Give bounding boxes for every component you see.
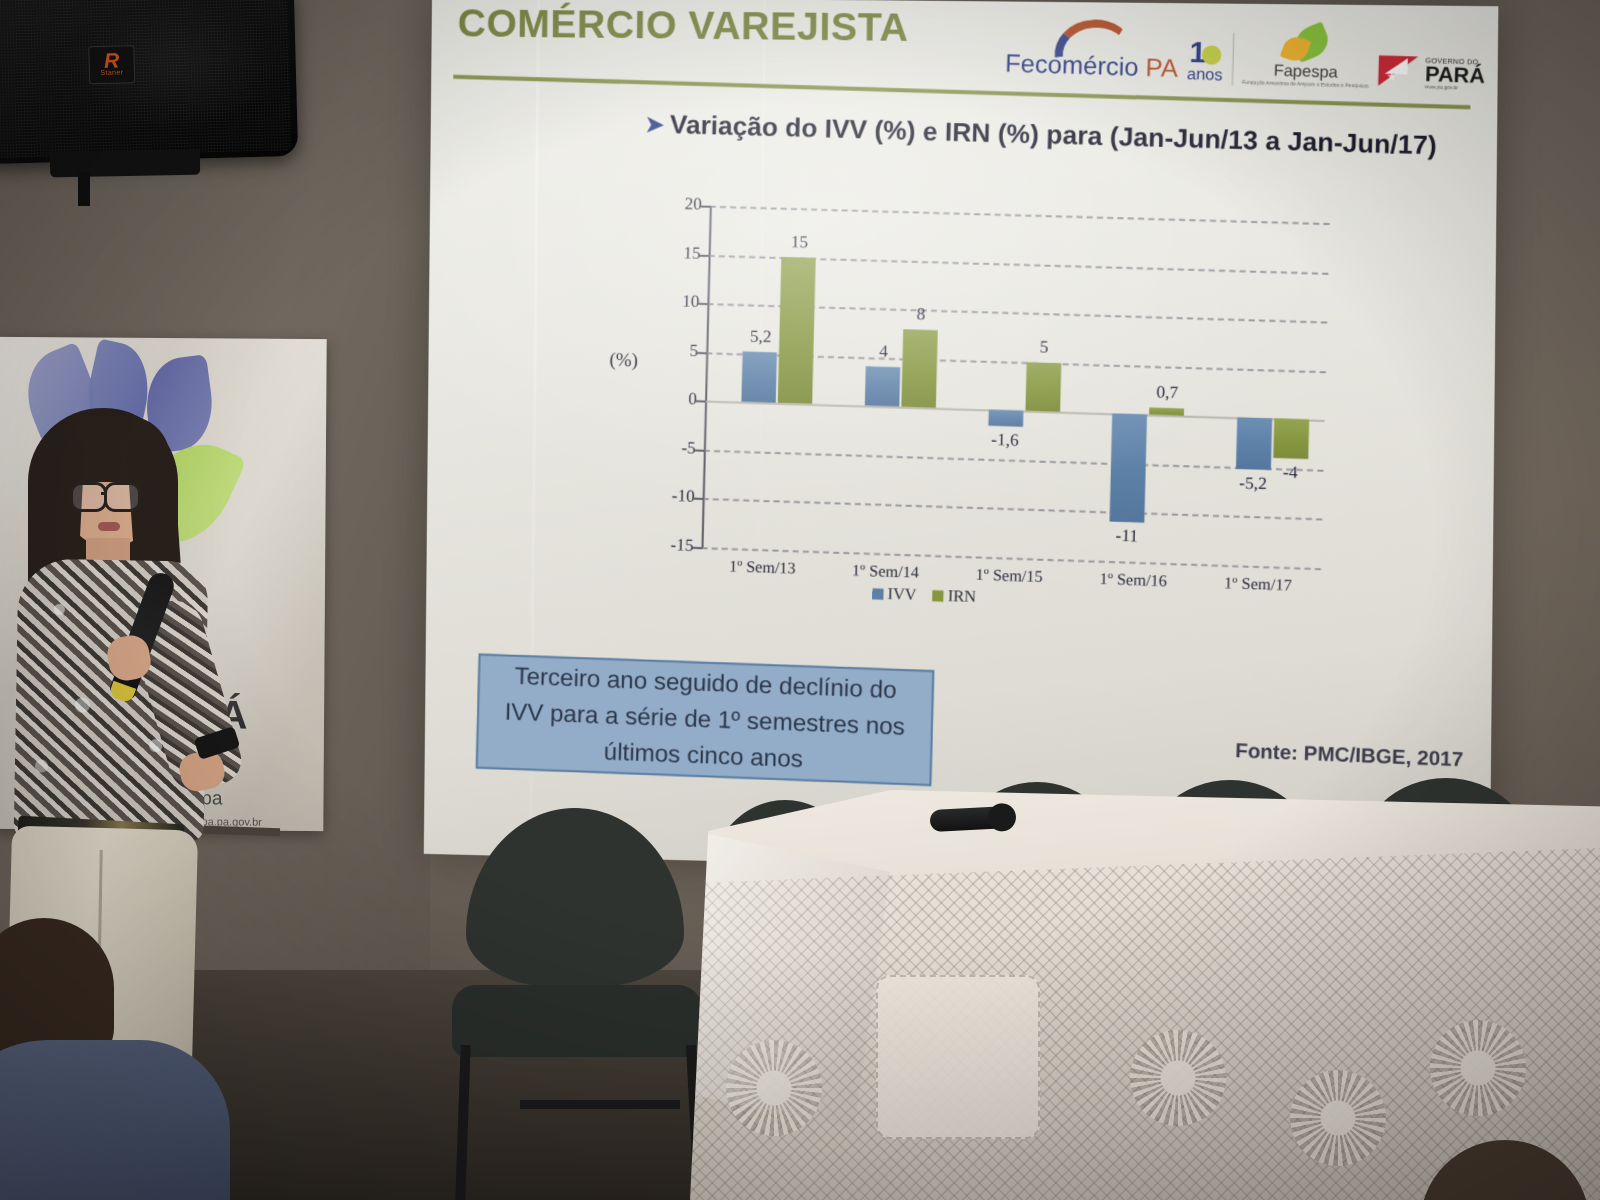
- legend-label: IVV: [887, 586, 916, 604]
- head-table: [690, 790, 1600, 1200]
- y-axis-tick: [697, 352, 707, 354]
- bar-value-label: 15: [771, 231, 828, 253]
- y-axis-tick: [700, 254, 710, 256]
- bar-value-label: 8: [892, 303, 949, 325]
- y-axis-tick: [692, 547, 702, 549]
- chart-legend: IVVIRN: [872, 585, 976, 607]
- lace-flower-motif: [1130, 1030, 1226, 1126]
- speaker-grille: [0, 0, 292, 158]
- y-axis-tick-label: -10: [660, 486, 695, 507]
- lace-flower-motif: [1430, 1020, 1526, 1116]
- y-axis-tick-label: 20: [667, 193, 702, 214]
- fapespa-leaf-icon: [1275, 26, 1338, 64]
- slide-bullet-text: Variação do IVV (%) e IRN (%) para (Jan-…: [670, 109, 1437, 161]
- y-axis-tick-label: 15: [666, 242, 701, 263]
- fapespa-tagline: Fundação Amazônia de Amparo a Estudos e …: [1242, 80, 1369, 90]
- eyeglasses-icon: [104, 482, 141, 512]
- legend-label: IRN: [948, 588, 976, 606]
- eyeglasses-bridge: [101, 492, 107, 495]
- bar-ivv-1: [865, 367, 900, 407]
- fapespa-logo: Fapespa Fundação Amazônia de Amparo a Es…: [1242, 25, 1371, 90]
- bar-irn-2: [1025, 362, 1061, 412]
- anniversary-zero-icon: [1201, 45, 1221, 65]
- chair-leg: [520, 1100, 680, 1109]
- y-axis-tick: [696, 401, 706, 403]
- slide-logo-row: Fecomércio PA 1 anos Fapespa Fundação Am…: [1005, 17, 1487, 93]
- y-axis-tick: [701, 205, 711, 207]
- bar-value-label: 0,7: [1138, 382, 1196, 404]
- bar-value-label: -11: [1098, 525, 1156, 547]
- y-axis-tick-label: 5: [664, 340, 699, 361]
- speaker-brand-name: Staner: [100, 69, 123, 77]
- legend-item-ivv: IVV: [872, 585, 917, 605]
- bar-ivv-0: [742, 351, 778, 403]
- gridline: [703, 498, 1323, 521]
- fecomercio-logo: Fecomércio PA: [1005, 17, 1180, 84]
- y-axis-tick-label: 10: [665, 291, 700, 312]
- x-axis-tick-label: 1º Sem/13: [701, 557, 824, 579]
- bullet-arrow-icon: ➤: [645, 111, 664, 138]
- y-axis-label: (%): [609, 349, 638, 372]
- audience-shoulder: [0, 1040, 230, 1200]
- x-axis-tick-label: 1º Sem/17: [1195, 574, 1320, 597]
- gridline: [704, 450, 1324, 472]
- callout-text: Terceiro ano seguido de declínio do IVV …: [490, 657, 920, 782]
- speaker-brand-mark: R: [104, 53, 120, 69]
- eyeglasses-icon: [70, 482, 107, 512]
- chart-plot-area: 20151050-5-10-155,2151º Sem/13481º Sem/1…: [701, 206, 1329, 568]
- x-axis-tick-label: 1º Sem/15: [947, 566, 1071, 588]
- lace-tablecloth: [690, 790, 1600, 1200]
- anniversary-logo: 1 anos: [1187, 41, 1224, 86]
- fapespa-logo-text: Fapespa: [1273, 62, 1338, 82]
- bar-value-label: 5: [1015, 336, 1073, 358]
- conference-room-scene: R Staner S GOVERNO DO PARÁ www.pa.gov.br…: [0, 0, 1600, 1200]
- fecomercio-logo-text: Fecomércio PA: [1005, 50, 1179, 84]
- bar-value-label: -1,6: [976, 429, 1034, 451]
- lace-flower-motif: [1290, 1070, 1386, 1166]
- governo-para-logo: ★ GOVERNO DO PARÁ www.pa.gov.br: [1378, 55, 1485, 93]
- x-axis-tick-label: 1º Sem/14: [824, 561, 948, 583]
- slide-title: COMÉRCIO VAREJISTA: [458, 2, 909, 51]
- source-attribution: Fonte: PMC/IBGE, 2017: [1235, 740, 1464, 772]
- bar-ivv-2: [988, 410, 1023, 427]
- legend-swatch: [872, 588, 883, 599]
- projected-slide: COMÉRCIO VAREJISTA Fecomércio PA 1 anos …: [424, 0, 1499, 880]
- anniversary-number: 1: [1189, 41, 1222, 67]
- legend-item-irn: IRN: [932, 587, 976, 607]
- logo-divider: [1231, 33, 1234, 86]
- bar-irn-3: [1149, 408, 1184, 416]
- bar-irn-0: [778, 257, 816, 405]
- pa-speaker: R Staner: [0, 0, 298, 164]
- legend-swatch: [933, 590, 944, 601]
- callout-box: Terceiro ano seguido de declínio do IVV …: [476, 653, 935, 786]
- bar-ivv-3: [1110, 414, 1147, 523]
- y-axis-tick-label: 0: [663, 388, 698, 409]
- y-axis-tick: [694, 498, 704, 500]
- gridline: [710, 206, 1330, 225]
- tablecloth-drape: [690, 830, 890, 1130]
- bar-irn-4: [1273, 419, 1309, 460]
- para-label: PARÁ: [1425, 65, 1486, 86]
- table-microphone: [929, 806, 1010, 832]
- y-axis-tick-label: -15: [659, 535, 694, 556]
- speaker-pole: [78, 172, 90, 206]
- bar-chart: (%) 20151050-5-10-155,2151º Sem/13481º S…: [620, 189, 1342, 615]
- lace-center-panel: [876, 975, 1040, 1139]
- para-flag-icon: ★: [1378, 55, 1422, 91]
- fecomercio-swoosh-icon: [1051, 16, 1134, 58]
- y-axis-tick: [698, 303, 708, 305]
- presenter-lips: [98, 522, 120, 531]
- bar-irn-1: [901, 329, 937, 408]
- y-axis-line: [701, 206, 711, 548]
- y-axis-tick-label: -5: [661, 437, 696, 458]
- y-axis-tick: [695, 449, 705, 451]
- speaker-brand-badge: R Staner: [88, 45, 135, 84]
- chair-seat: [452, 985, 702, 1057]
- x-axis-tick-label: 1º Sem/16: [1071, 570, 1196, 592]
- speaker-bracket: [50, 149, 200, 178]
- bar-value-label: -4: [1261, 462, 1319, 484]
